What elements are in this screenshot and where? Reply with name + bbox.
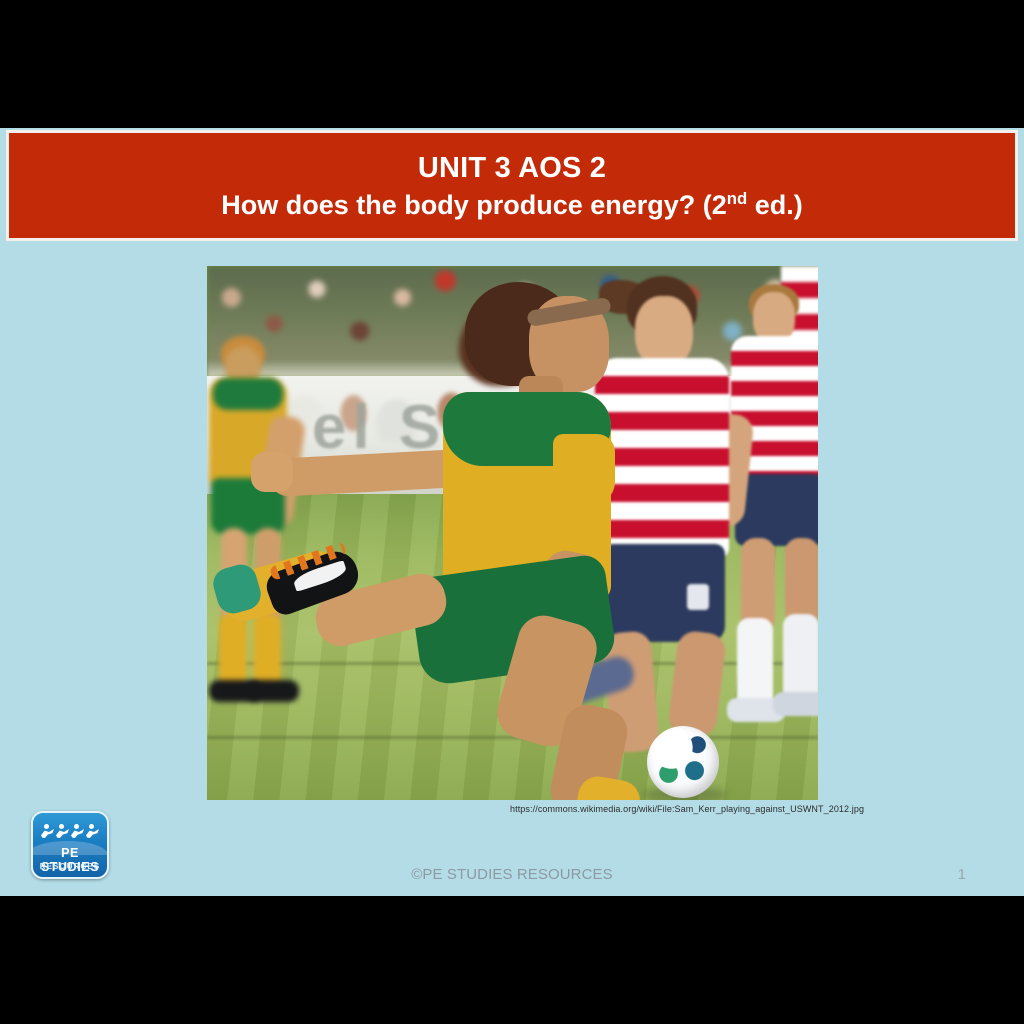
player-background-sock [253, 614, 281, 688]
soccer-match-photo: al el Sp [207, 266, 818, 800]
runner-icon [41, 824, 54, 840]
runner-icon [56, 824, 69, 840]
photo-credit-url: https://commons.wikimedia.org/wiki/File:… [510, 804, 864, 814]
player-usa-second-leg [785, 538, 818, 626]
slide-title-banner: UNIT 3 AOS 2 How does the body produce e… [6, 130, 1018, 241]
slide-title-secondary-superscript: nd [727, 189, 747, 208]
presentation-slide: UNIT 3 AOS 2 How does the body produce e… [0, 128, 1024, 896]
slide-page-number: 1 [958, 866, 966, 883]
soccer-ball [647, 726, 719, 798]
player-usa-second-sock [783, 614, 818, 702]
player-usa-second-boot [773, 692, 818, 716]
player-usa-second-sock [737, 618, 773, 710]
player-background-sock [219, 614, 247, 688]
runner-icon [86, 824, 99, 840]
runner-icon [71, 824, 84, 840]
player-usa-crest [687, 584, 709, 610]
slide-title-secondary-prefix: How does the body produce energy? (2 [221, 190, 727, 220]
slide-title-primary: UNIT 3 AOS 2 [418, 153, 606, 184]
player-main-hand [251, 452, 293, 492]
player-main-sleeve [553, 434, 615, 504]
slide-title-secondary-suffix: ed.) [747, 190, 803, 220]
player-background-collar [213, 378, 283, 410]
slide-title-secondary: How does the body produce energy? (2nd e… [221, 190, 803, 220]
player-background-boot [247, 680, 299, 702]
screenshot-canvas: UNIT 3 AOS 2 How does the body produce e… [0, 0, 1024, 1024]
footer-copyright: ©PE STUDIES RESOURCES [0, 866, 1024, 883]
slide-photo: al el Sp [207, 266, 818, 800]
player-usa-striped-jersey [595, 358, 729, 558]
